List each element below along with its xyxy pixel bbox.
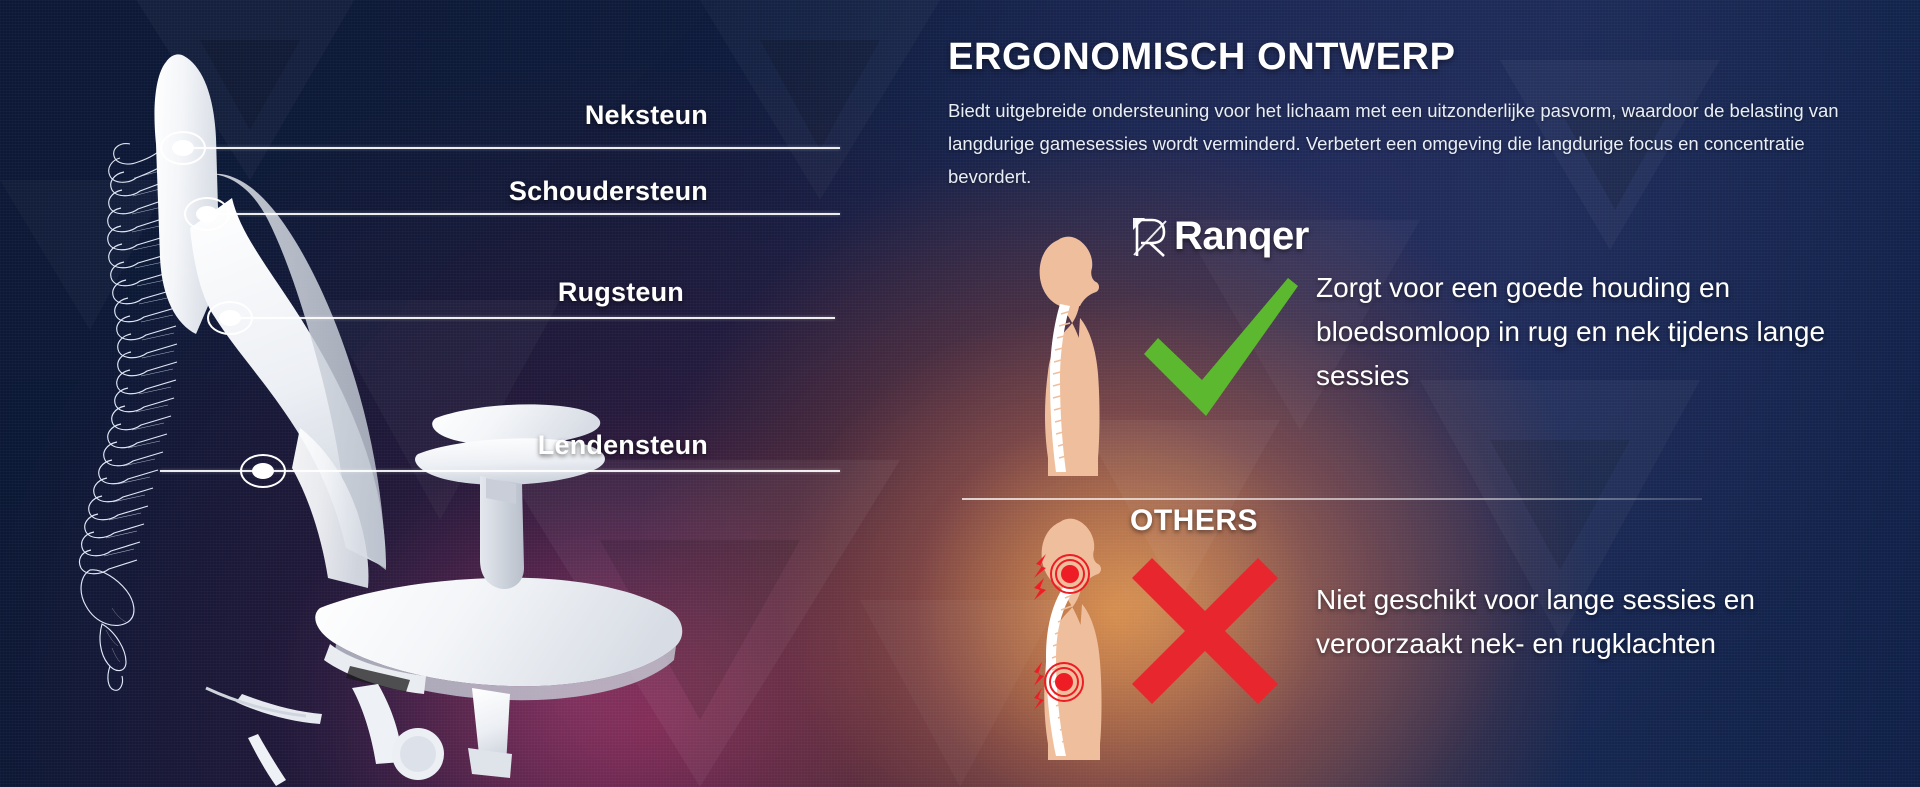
others-brand-label: OTHERS: [1130, 504, 1258, 538]
comparison-row-others: OTHERS Niet geschikt voor lange sessies …: [944, 516, 1920, 766]
callout-label-back: Rugsteun: [558, 277, 684, 308]
callout-dot-shoulder: [184, 197, 230, 231]
callout-label-shoulder: Schoudersteun: [509, 176, 708, 207]
comparison-row-ranqer: Ranqer Zorgt voor een goede houding en b…: [944, 232, 1920, 482]
description-text: Biedt uitgebreide ondersteuning voor het…: [948, 94, 1868, 193]
verdict-text-others: Niet geschikt voor lange sessies en vero…: [1316, 578, 1876, 666]
red-cross-icon: [1130, 556, 1280, 706]
ergonomic-description-panel: ERGONOMISCH ONTWERP Biedt uitgebreide on…: [944, 0, 1920, 787]
callout-line-back: [235, 317, 835, 319]
brand-name: Ranqer: [1174, 214, 1309, 259]
callout-label-neck: Neksteun: [585, 100, 708, 131]
callout-dot-neck: [160, 131, 206, 165]
good-posture-figure-icon: [1034, 232, 1144, 482]
section-divider: [962, 498, 1702, 500]
bad-posture-figure-icon: [1034, 516, 1144, 766]
callout-dot-lumbar: [240, 454, 286, 488]
gaming-chair-photo: [150, 48, 710, 787]
page-title: ERGONOMISCH ONTWERP: [948, 36, 1456, 79]
ranqer-r-monogram-icon: [1130, 215, 1170, 259]
ranqer-brand-logo: Ranqer: [1130, 214, 1309, 259]
chair-diagram-panel: Neksteun Schoudersteun Rugsteun Lendenst…: [0, 0, 880, 787]
verdict-text-ranqer: Zorgt voor een goede houding en bloedsom…: [1316, 266, 1876, 398]
infographic-banner: Neksteun Schoudersteun Rugsteun Lendenst…: [0, 0, 1920, 787]
callout-label-lumbar: Lendensteun: [538, 430, 708, 461]
callout-dot-back: [207, 301, 253, 335]
callout-line-shoulder: [212, 213, 840, 215]
green-check-icon: [1140, 276, 1300, 426]
callout-line-neck: [188, 147, 840, 149]
